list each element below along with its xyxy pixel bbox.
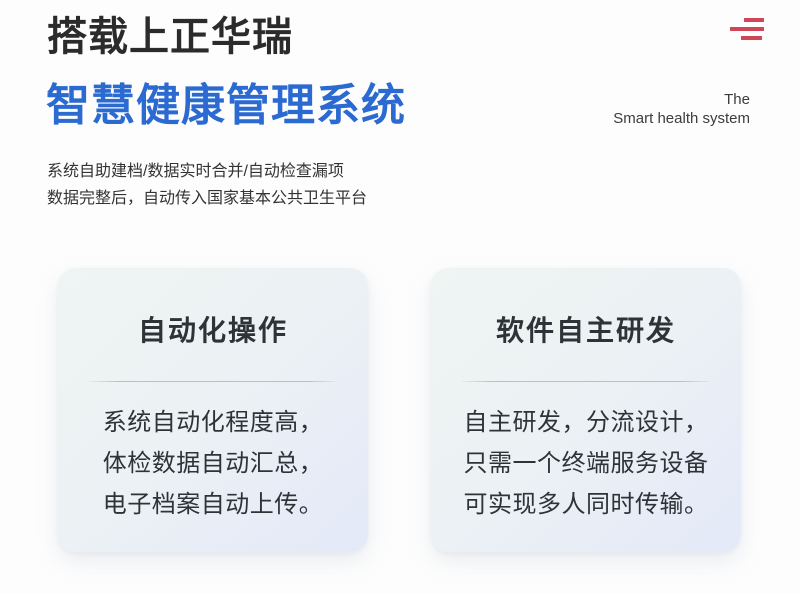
feature-card-body-line-2: 只需一个终端服务设备 [431,443,741,484]
feature-card-automation[interactable]: 自动化操作 系统自动化程度高， 体检数据自动汇总， 电子档案自动上传。 [58,268,368,552]
feature-card-title: 软件自主研发 [431,314,741,348]
feature-cards: 自动化操作 系统自动化程度高， 体检数据自动汇总， 电子档案自动上传。 软件自主… [0,268,800,558]
feature-card-body: 系统自动化程度高， 体检数据自动汇总， 电子档案自动上传。 [58,402,368,525]
feature-card-body-line-1: 系统自动化程度高， [58,402,368,443]
feature-card-title: 自动化操作 [58,314,368,348]
feature-card-software[interactable]: 软件自主研发 自主研发，分流设计， 只需一个终端服务设备 可实现多人同时传输。 [431,268,741,552]
headline-main: 智慧健康管理系统 [46,80,406,132]
feature-card-body-line-1: 自主研发，分流设计， [431,402,741,443]
stacked-lines-bar-bottom [741,36,762,40]
promo-page: 搭载上正华瑞 智慧健康管理系统 The Smart health system … [0,0,800,594]
description-line-2: 数据完整后，自动传入国家基本公共卫生平台 [47,185,367,212]
stacked-lines-bar-top [744,18,764,22]
stacked-lines-bar-middle [730,27,764,31]
feature-card-divider [89,381,337,382]
description-block: 系统自助建档/数据实时合并/自动检查漏项 数据完整后，自动传入国家基本公共卫生平… [47,158,367,212]
feature-card-body-line-3: 可实现多人同时传输。 [431,484,741,525]
feature-card-body-line-3: 电子档案自动上传。 [58,484,368,525]
feature-card-divider [462,381,710,382]
headline-top: 搭载上正华瑞 [47,14,293,60]
english-subtitle: The Smart health system [613,90,750,128]
english-subtitle-line2: Smart health system [613,109,750,128]
feature-card-body: 自主研发，分流设计， 只需一个终端服务设备 可实现多人同时传输。 [431,402,741,525]
feature-card-body-line-2: 体检数据自动汇总， [58,443,368,484]
stacked-lines-icon [730,16,764,46]
english-subtitle-line1: The [613,90,750,109]
description-line-1: 系统自助建档/数据实时合并/自动检查漏项 [47,158,367,185]
